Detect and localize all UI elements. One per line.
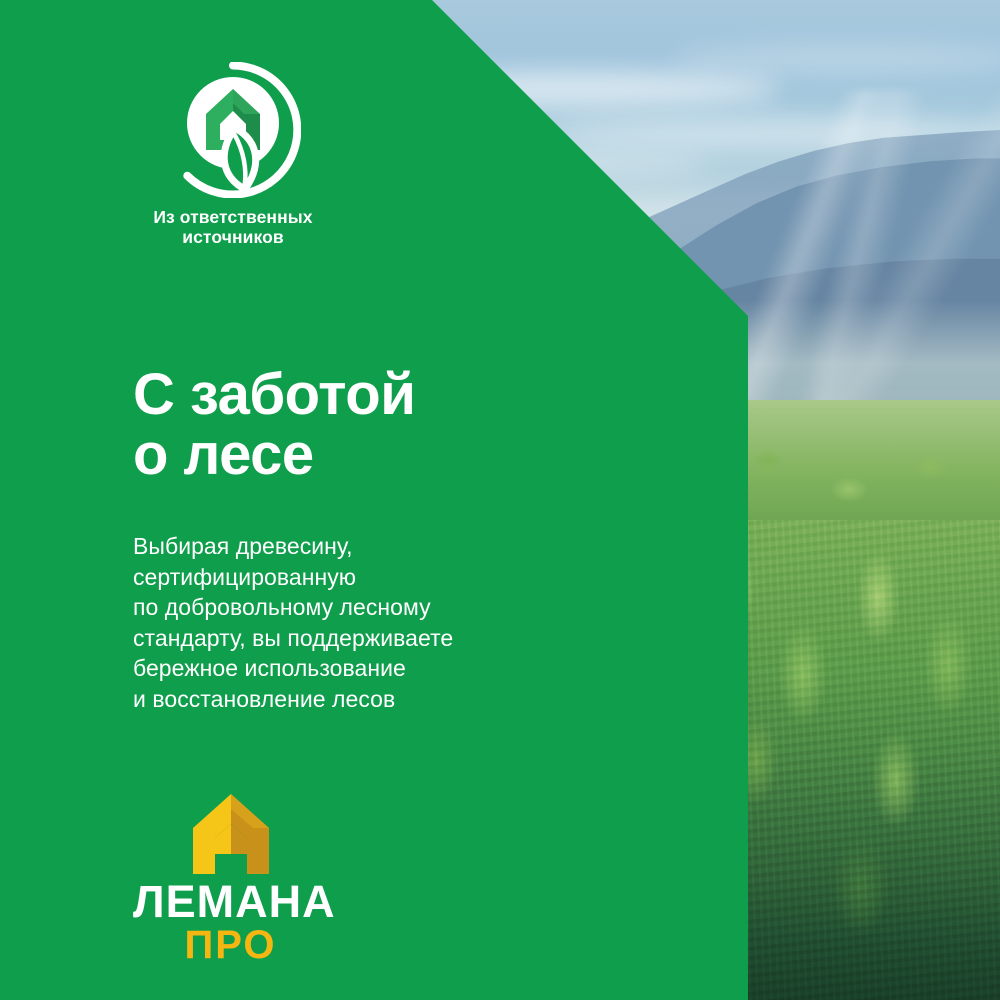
brand-logo: ЛЕМАНА ПРО bbox=[133, 792, 328, 965]
headline-line-2: о лесе bbox=[133, 425, 415, 485]
headline: С заботой о лесе bbox=[133, 365, 415, 484]
paragraph-line-2: сертифицированную bbox=[133, 562, 453, 593]
paragraph-line-5: бережное использование bbox=[133, 653, 453, 684]
brand-sub: ПРО bbox=[133, 925, 328, 965]
eco-certification-badge: Из ответственных источников bbox=[133, 62, 333, 248]
eco-caption-line-1: Из ответственных bbox=[133, 207, 333, 227]
body-paragraph: Выбирая древесину, сертифицированную по … bbox=[133, 531, 453, 714]
paragraph-line-1: Выбирая древесину, bbox=[133, 531, 453, 562]
paragraph-line-3: по добровольному лесному bbox=[133, 592, 453, 623]
lemana-house-icon bbox=[185, 792, 277, 876]
brand-name: ЛЕМАНА bbox=[133, 880, 328, 924]
headline-line-1: С заботой bbox=[133, 365, 415, 425]
eco-caption-line-2: источников bbox=[133, 227, 333, 247]
promo-banner: Из ответственных источников С заботой о … bbox=[0, 0, 1000, 1000]
paragraph-line-6: и восстановление лесов bbox=[133, 684, 453, 715]
eco-badge-caption: Из ответственных источников bbox=[133, 207, 333, 248]
eco-house-leaf-circle-icon bbox=[165, 62, 301, 198]
paragraph-line-4: стандарту, вы поддерживаете bbox=[133, 623, 453, 654]
